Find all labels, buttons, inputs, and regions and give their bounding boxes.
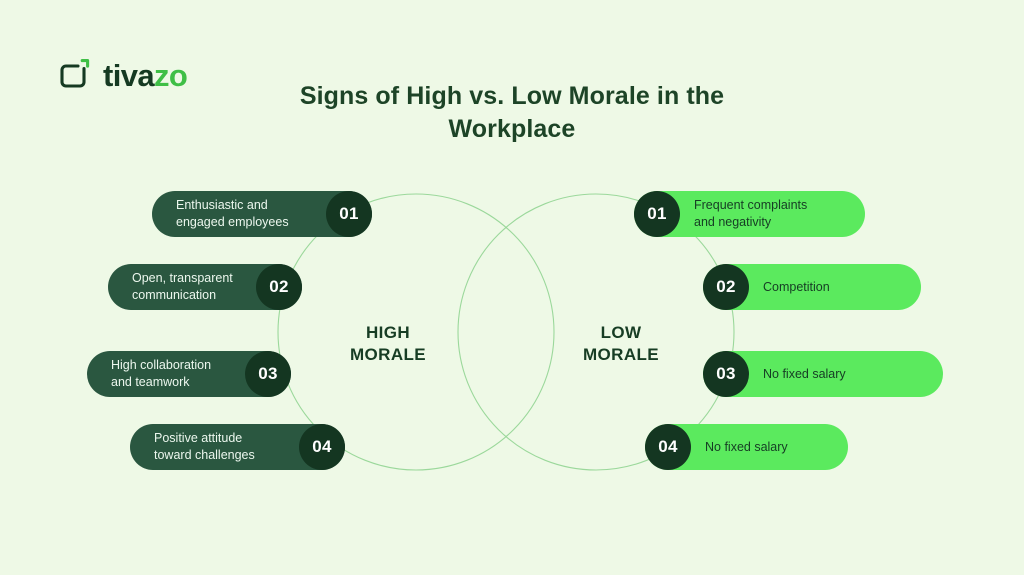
- brand-name-primary: tiva: [103, 58, 154, 93]
- list-item-high-02[interactable]: Open, transparent communication 02: [108, 264, 302, 310]
- status-badge: 04: [299, 424, 345, 470]
- list-item-low-03[interactable]: 03 No fixed salary: [703, 351, 943, 397]
- list-item-high-01[interactable]: Enthusiastic and engaged employees 01: [152, 191, 372, 237]
- list-item-label: No fixed salary: [763, 366, 846, 383]
- venn-label-low-morale: LOW MORALE: [536, 322, 706, 367]
- status-badge: 04: [645, 424, 691, 470]
- rounded-square-bracket-icon: [58, 58, 92, 92]
- brand-name-accent: zo: [154, 58, 187, 93]
- list-item-low-04[interactable]: 04 No fixed salary: [645, 424, 848, 470]
- list-item-label: Enthusiastic and engaged employees: [176, 197, 289, 230]
- list-item-label: Open, transparent communication: [132, 270, 233, 303]
- status-badge: 01: [326, 191, 372, 237]
- list-item-low-02[interactable]: 02 Competition: [703, 264, 921, 310]
- venn-label-high-morale: HIGH MORALE: [303, 322, 473, 367]
- list-item-label: High collaboration and teamwork: [111, 357, 211, 390]
- page-title: Signs of High vs. Low Morale in the Work…: [262, 80, 762, 145]
- list-item-label: Competition: [763, 279, 830, 296]
- status-badge: 02: [256, 264, 302, 310]
- brand-wordmark: tivazo: [103, 60, 187, 91]
- status-badge: 03: [703, 351, 749, 397]
- list-item-label: Positive attitude toward challenges: [154, 430, 255, 463]
- infographic-canvas: tivazo Signs of High vs. Low Morale in t…: [0, 0, 1024, 575]
- list-item-label: No fixed salary: [705, 439, 788, 456]
- status-badge: 03: [245, 351, 291, 397]
- list-item-low-01[interactable]: 01 Frequent complaints and negativity: [634, 191, 865, 237]
- list-item-label: Frequent complaints and negativity: [694, 197, 807, 230]
- brand-logo: tivazo: [58, 58, 187, 92]
- status-badge: 02: [703, 264, 749, 310]
- status-badge: 01: [634, 191, 680, 237]
- list-item-high-03[interactable]: High collaboration and teamwork 03: [87, 351, 291, 397]
- list-item-high-04[interactable]: Positive attitude toward challenges 04: [130, 424, 345, 470]
